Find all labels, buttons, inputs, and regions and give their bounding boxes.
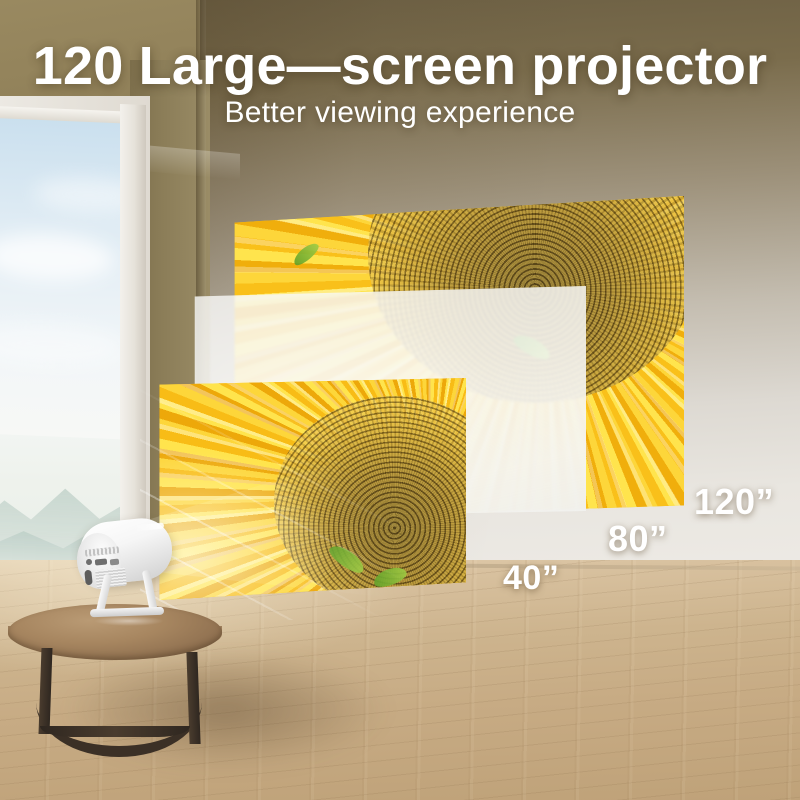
window-view — [0, 112, 136, 578]
page-title: 120 Large—screen projector — [0, 35, 800, 97]
projector-usb-port — [110, 559, 120, 566]
product-marketing-image: 40” 80” 120” 120 Large—screen projector … — [0, 0, 800, 800]
window-frame-right — [120, 104, 146, 581]
projector-device — [72, 512, 182, 612]
projector-hdmi-port — [95, 558, 108, 565]
table-base-crossbar — [40, 726, 190, 737]
screen-size-label-40: 40” — [503, 561, 559, 595]
sunflower-glow — [157, 378, 466, 600]
projected-screen-40 — [157, 378, 466, 600]
sunflower-image-40 — [157, 378, 466, 600]
projector-power-jack — [84, 570, 93, 586]
screen-size-label-80: 80” — [608, 521, 668, 557]
screen-size-label-120: 120” — [694, 484, 774, 520]
page-subtitle: Better viewing experience — [0, 96, 800, 130]
projector-reflection — [94, 616, 164, 626]
